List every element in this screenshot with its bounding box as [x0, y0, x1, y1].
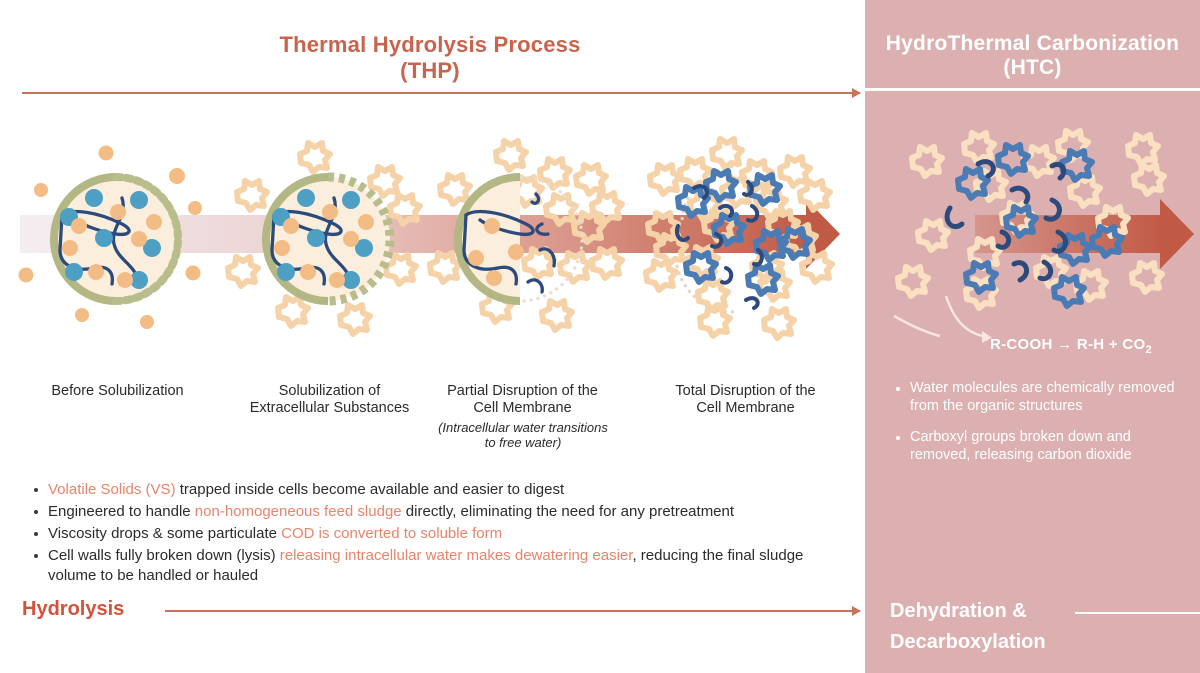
thp-title-line2: (THP)	[400, 58, 460, 83]
infographic-canvas: Thermal Hydrolysis Process (THP) HydroTh…	[0, 0, 1200, 673]
stage-label-4: Total Disruption of the Cell Membrane	[638, 383, 853, 417]
stage-label-3-subtext: (Intracellular water transitions to free…	[412, 420, 634, 451]
stage-label-3-line2: Cell Membrane	[473, 400, 571, 416]
stage-sub-line2: to free water)	[485, 435, 562, 450]
thp-benefit-item: Volatile Solids (VS) trapped inside cell…	[28, 480, 840, 500]
footer-right-line1: Dehydration &	[890, 600, 1027, 622]
htc-title: HydroThermal Carbonization (HTC)	[865, 32, 1200, 81]
highlighted-text: non-homogeneous feed sludge	[195, 503, 402, 520]
htc-effects-list: Water molecules are chemically removed f…	[893, 380, 1193, 479]
footer-white-rule	[1075, 612, 1200, 614]
thp-title-line1: Thermal Hydrolysis Process	[279, 32, 580, 57]
stage-sub-line1: (Intracellular water transitions	[438, 420, 608, 435]
stage-label-4-line2: Cell Membrane	[696, 400, 794, 416]
thp-title: Thermal Hydrolysis Process (THP)	[0, 32, 860, 83]
htc-effect-item: Carboxyl groups broken down and removed,…	[893, 429, 1193, 464]
thp-benefit-item: Cell walls fully broken down (lysis) rel…	[28, 546, 840, 586]
stage-4-cell-illustration	[642, 140, 862, 340]
equation-subscript: 2	[1146, 344, 1152, 356]
footer-dehydration-label: Dehydration & Decarboxylation	[890, 596, 1100, 658]
carbonization-equation: R-COOH → R-H + CO2	[990, 336, 1152, 356]
equation-text: R-COOH → R-H + CO	[990, 336, 1146, 353]
htc-particles-illustration	[880, 140, 1180, 340]
footer-arrow-rule	[165, 610, 860, 612]
stage-label-2: Solubilization of Extracellular Substanc…	[222, 383, 437, 417]
footer-right-line2: Decarboxylation	[890, 631, 1046, 653]
thp-header-arrow-rule	[22, 92, 860, 94]
htc-title-line1: HydroThermal Carbonization	[886, 32, 1179, 55]
stage-label-3-line1: Partial Disruption of the	[447, 383, 598, 399]
stage-label-1-line1: Before Solubilization	[51, 383, 183, 399]
stage-3-cell-illustration	[432, 140, 652, 340]
highlighted-text: releasing intracellular water makes dewa…	[280, 547, 633, 564]
stage-1-cell-illustration	[10, 140, 225, 340]
body-text: Viscosity drops & some particulate	[48, 525, 281, 542]
htc-title-line2: (HTC)	[1003, 56, 1061, 79]
stage-2-cell-illustration	[222, 140, 437, 340]
thp-benefits-list: Volatile Solids (VS) trapped inside cell…	[28, 480, 840, 588]
stage-label-1: Before Solubilization	[10, 383, 225, 400]
stage-label-2-line2: Extracellular Substances	[250, 400, 410, 416]
body-text: Cell walls fully broken down (lysis)	[48, 547, 280, 564]
stage-label-2-line1: Solubilization of	[279, 383, 381, 399]
stage-label-4-line1: Total Disruption of the	[675, 383, 815, 399]
footer-hydrolysis-label: Hydrolysis	[22, 598, 124, 621]
thp-benefit-item: Engineered to handle non-homogeneous fee…	[28, 502, 840, 522]
thp-benefit-item: Viscosity drops & some particulate COD i…	[28, 524, 840, 544]
body-text: trapped inside cells become available an…	[176, 481, 565, 498]
htc-effect-item: Water molecules are chemically removed f…	[893, 380, 1193, 415]
body-text: Engineered to handle	[48, 503, 195, 520]
htc-header-divider	[865, 88, 1200, 91]
body-text: directly, eliminating the need for any p…	[402, 503, 734, 520]
highlighted-text: Volatile Solids (VS)	[48, 481, 176, 498]
stage-label-3: Partial Disruption of the Cell Membrane	[415, 383, 630, 417]
gear-particles-blue	[678, 171, 810, 294]
highlighted-text: COD is converted to soluble form	[281, 525, 502, 542]
